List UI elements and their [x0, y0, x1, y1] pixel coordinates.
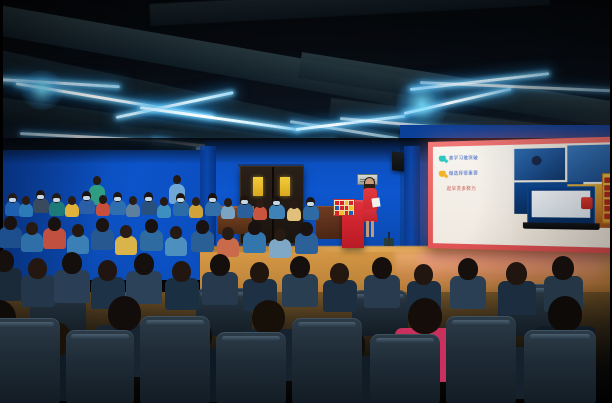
audience-member-torso: [165, 237, 187, 257]
seat-highlight: [222, 336, 281, 341]
audience-member-torso: [498, 281, 536, 316]
audience-member-head: [22, 196, 30, 205]
auditorium-photo: 善学习敢突破 做选择很重要 起早贪多努力: [0, 0, 612, 403]
led-presentation-screen[interactable]: 善学习敢突破 做选择很重要 起早贪多努力: [428, 136, 612, 253]
seat-highlight: [452, 320, 511, 325]
audience-member-head: [372, 257, 392, 279]
face-mask-icon: [177, 198, 184, 202]
audience-member-head: [252, 300, 285, 335]
audience-member-head: [290, 200, 298, 209]
audience-member-head: [224, 198, 232, 207]
slide-bullet-1: 善学习敢突破: [439, 154, 508, 161]
loudspeaker-icon: [392, 151, 404, 171]
presenter-leg-right: [371, 221, 374, 237]
auditorium-seat: [0, 318, 60, 403]
slide-bullet-3: 起早贪多努力: [439, 186, 508, 192]
audience-member-torso: [91, 229, 114, 250]
audience-member-head: [458, 258, 478, 280]
audience-member-head: [256, 199, 264, 208]
auditorium-seat: [140, 316, 210, 403]
seat-highlight: [0, 322, 54, 327]
audience-member-head: [300, 222, 313, 236]
audience-member-torso: [21, 233, 43, 253]
audience-member-head: [248, 221, 261, 235]
audience-member-torso: [287, 207, 301, 221]
audience-member-torso: [79, 199, 95, 214]
auditorium-seat: [66, 330, 134, 403]
audience-member-head: [134, 253, 154, 275]
auditorium-seat: [370, 334, 440, 403]
audience-member-head: [120, 225, 132, 238]
audience-member-torso: [140, 230, 163, 251]
laptop-keyboard: [523, 222, 600, 230]
audience-member-torso: [126, 203, 140, 217]
audience-member-torso: [237, 203, 253, 218]
face-mask-icon: [145, 197, 152, 201]
audience-member-torso: [364, 275, 400, 308]
audience-member-torso: [43, 228, 66, 249]
audience-member-head: [72, 224, 84, 237]
audience-member-head: [274, 228, 286, 241]
slide-bullet-1-text: 善学习敢突破: [449, 155, 478, 162]
audience-member-head: [172, 261, 191, 282]
audience-member-torso: [269, 204, 285, 219]
audience-member-torso: [115, 236, 137, 256]
audience-member-torso: [450, 276, 486, 309]
face-mask-icon: [37, 195, 44, 199]
audience-member-torso: [0, 268, 22, 301]
red-cup-icon: [581, 197, 593, 209]
audience-member-torso: [65, 203, 79, 217]
seat-highlight: [71, 334, 128, 339]
audience-member-head: [62, 252, 82, 274]
audience-member-torso: [54, 270, 90, 303]
audience-member-torso: [253, 206, 267, 220]
staff-head: [93, 176, 101, 185]
audience-member-head: [250, 262, 269, 283]
audience-member-head: [170, 226, 182, 239]
audience-member-head: [548, 296, 582, 332]
audience-member-torso: [243, 232, 266, 253]
staff-head: [173, 175, 181, 184]
door-window-right: [280, 177, 290, 196]
face-mask-icon: [273, 201, 280, 205]
face-mask-icon: [53, 198, 60, 202]
audience-member-torso: [21, 275, 55, 307]
audience-member-head: [408, 298, 442, 334]
audience-member-head: [414, 264, 433, 285]
face-mask-icon: [83, 196, 90, 200]
audience-member-torso: [173, 201, 189, 216]
audience-member-torso: [165, 278, 199, 310]
audience-member-torso: [49, 201, 65, 216]
slide-bullet-2: 做选择很重要: [439, 170, 508, 177]
audience-member-torso: [189, 204, 203, 218]
audience-member-head: [98, 260, 117, 281]
audience-member-head: [26, 222, 38, 235]
audience-member-torso: [110, 200, 126, 215]
audience-member-head: [96, 218, 109, 232]
slide-photo-collage: [512, 142, 612, 248]
slide-content: 善学习敢突破 做选择很重要 起早贪多努力: [433, 142, 612, 248]
podium-sign: [333, 199, 355, 216]
face-mask-icon: [9, 198, 16, 202]
presenter: [360, 178, 380, 248]
audience-member-head: [145, 219, 158, 233]
audience-member-torso: [295, 233, 318, 254]
seat-highlight: [298, 322, 357, 327]
audience-member-head: [210, 254, 230, 276]
audience-member-torso: [19, 203, 33, 217]
audience-member-torso: [323, 280, 357, 312]
audience-member-head: [48, 217, 61, 231]
presenter-skirt: [362, 209, 378, 222]
student-head-icon: [532, 156, 542, 166]
pillar-right: [404, 146, 420, 254]
floor-monitor-box: [384, 238, 394, 246]
audience-member-head: [28, 258, 47, 279]
face-mask-icon: [114, 197, 121, 201]
audience-member-head: [160, 197, 168, 206]
audience-member-head: [99, 195, 107, 204]
audience-member-torso: [0, 227, 22, 248]
face-mask-icon: [241, 200, 248, 204]
leaf-bullet-cyan-icon: [439, 156, 446, 162]
audience-member-head: [290, 256, 310, 278]
auditorium-seat: [524, 330, 596, 403]
audience-member-torso: [221, 205, 235, 219]
seat-highlight: [376, 338, 435, 343]
leaf-bullet-gold-icon: [439, 171, 446, 177]
auditorium-seat: [446, 316, 516, 403]
audience-member-torso: [191, 231, 214, 252]
audience-member-head: [192, 197, 200, 206]
audience-member-torso: [96, 202, 110, 216]
audience-member-torso: [33, 198, 49, 213]
audience-member-torso: [282, 274, 318, 307]
seat-highlight: [530, 334, 590, 339]
collage-photo-1: [515, 148, 566, 181]
presenter-leg-left: [366, 221, 369, 237]
audience-member-torso: [303, 205, 319, 220]
door-window-left: [253, 177, 263, 196]
audience-member-head: [108, 296, 141, 331]
slide-bullets: 善学习敢突破 做选择很重要 起早贪多努力: [433, 145, 513, 245]
audience-member-head: [68, 196, 76, 205]
audience-member-torso: [157, 204, 171, 218]
seat-highlight: [146, 320, 205, 325]
slide-bullet-2-text: 做选择很重要: [449, 170, 478, 176]
audience-member-head: [196, 220, 209, 234]
face-mask-icon: [209, 198, 216, 202]
audience-member-head: [330, 263, 349, 284]
auditorium-seat: [292, 318, 362, 403]
slide-bullet-3-text: 起早贪多努力: [447, 186, 476, 192]
auditorium-seat: [216, 332, 286, 403]
audience-member-torso: [141, 200, 157, 215]
presenter-notes: [371, 197, 380, 207]
audience-member-torso: [269, 239, 291, 259]
audience-member-head: [4, 216, 17, 230]
audience-member-torso: [202, 272, 238, 305]
audience-member-head: [552, 256, 574, 280]
audience-member-torso: [205, 201, 221, 216]
audience-member-head: [129, 196, 137, 205]
face-mask-icon: [307, 202, 314, 206]
audience-member-head: [222, 227, 234, 240]
audience-member-head: [506, 262, 527, 285]
